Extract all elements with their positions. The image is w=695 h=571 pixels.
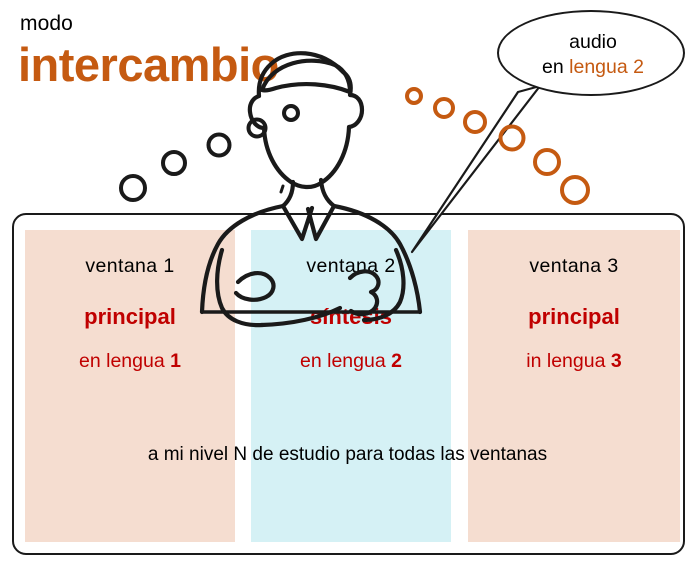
window-column-2-content: ventana 2 síntesis en lengua 2 (251, 230, 451, 373)
window-3-language-number: 3 (611, 350, 622, 372)
window-1-title: ventana 1 (25, 255, 235, 278)
eyebrow-label: modo (20, 12, 73, 36)
window-column-3-content: ventana 3 principal in lengua 3 (468, 230, 680, 373)
window-1-language-number: 1 (170, 350, 181, 372)
window-1-role: principal (25, 304, 235, 330)
speech-bubble-line-1: audio (569, 30, 617, 55)
panel-footer-note: a mi nivel N de estudio para todas las v… (0, 444, 695, 466)
thought-bubbles-orange (407, 89, 588, 203)
window-2-language: en lengua 2 (251, 350, 451, 373)
window-column-1[interactable]: ventana 1 principal en lengua 1 (25, 230, 235, 542)
window-3-title: ventana 3 (468, 255, 680, 278)
window-column-2[interactable]: ventana 2 síntesis en lengua 2 (251, 230, 451, 542)
window-2-title: ventana 2 (251, 255, 451, 278)
speech-bubble-line-2: en lengua 2 (542, 55, 644, 80)
thought-bubbles-black (121, 106, 298, 200)
window-column-3[interactable]: ventana 3 principal in lengua 3 (468, 230, 680, 542)
window-3-role: principal (468, 304, 680, 330)
window-3-language-prefix: in lengua (526, 350, 611, 372)
speech-bubble-highlight: lengua 2 (569, 56, 644, 78)
window-column-1-content: ventana 1 principal en lengua 1 (25, 230, 235, 373)
window-3-language: in lengua 3 (468, 350, 680, 373)
page-title: intercambio (18, 41, 279, 88)
window-1-language: en lengua 1 (25, 350, 235, 373)
window-2-language-number: 2 (391, 350, 402, 372)
window-2-language-prefix: en lengua (300, 350, 391, 372)
diagram-canvas: modo intercambio (0, 0, 695, 571)
window-1-language-prefix: en lengua (79, 350, 170, 372)
window-2-role: síntesis (251, 304, 451, 330)
speech-bubble: audio en lengua 2 (497, 10, 685, 96)
speech-bubble-text: audio en lengua 2 (499, 12, 687, 98)
speech-bubble-prefix: en (542, 56, 569, 78)
